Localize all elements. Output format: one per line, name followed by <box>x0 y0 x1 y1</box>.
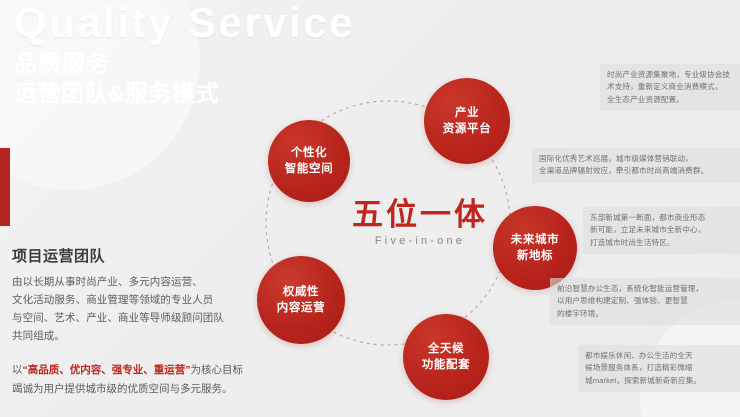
node-label-line1: 权威性 <box>283 284 319 300</box>
five-in-one-diagram: 个性化 智能空间 产业 资源平台 未来城市 新地标 全天候 功能配套 权威性 内… <box>248 58 578 408</box>
node-label-line1: 未来城市 <box>511 232 559 248</box>
diagram-node-allday-facilities[interactable]: 全天候 功能配套 <box>403 314 489 400</box>
left-section-title: 项目运营团队 <box>12 245 280 266</box>
hero-chinese-title: 品质服务 <box>14 49 434 78</box>
left-footer-line-2: 竭诚为用户提供城市级的优质空间与多元服务。 <box>12 380 280 398</box>
left-paragraph-line: 与空间、艺术、产业、商业等导师级顾问团队 <box>12 309 280 327</box>
note-line: 城market，探索新城新奇新应集。 <box>585 375 733 387</box>
footer-suffix: 为核心目标 <box>191 364 244 376</box>
note-line: 全生态产业资源配置。 <box>607 94 733 106</box>
annotation-note-future-city-landmark: 东部新城第一断面，都市商业形态 新可能，立足未来城市全新中心， 打造城市时尚生活… <box>583 207 740 254</box>
slide-canvas: Quality Service 品质服务 运营团队&服务模式 项目运营团队 由以… <box>0 0 740 417</box>
note-line: 都市娱乐休闲、办公生活的全天 <box>585 350 733 362</box>
center-chinese-title: 五位一体 <box>330 198 510 232</box>
node-label-line2: 功能配套 <box>422 357 470 373</box>
center-english-title: Five-in-one <box>330 235 510 247</box>
note-line: 新可能，立足未来城市全新中心， <box>590 224 733 236</box>
hero-english-title: Quality Service <box>14 0 434 48</box>
note-line: 前沿智慧办公生态，系统化智能运营管理， <box>557 283 733 295</box>
note-line: 东部新城第一断面，都市商业形态 <box>590 212 733 224</box>
left-footer-line-1: 以“高品质、优内容、强专业、重运营”为核心目标 <box>12 361 280 379</box>
node-label-line1: 全天候 <box>428 341 464 357</box>
annotation-note-industry-platform: 时尚产业资源集聚地，专业级协会技 术支持，重新定义商业消费模式， 全生态产业资源… <box>600 64 740 111</box>
left-paragraph: 由以长期从事时尚产业、多元内容运营、 文化活动服务、商业管理等领域的专业人员 与… <box>12 273 280 345</box>
left-paragraph-line: 共同组成。 <box>12 327 280 345</box>
note-line: 的楼宇环境。 <box>557 308 733 320</box>
left-paragraph-line: 文化活动服务、商业管理等领域的专业人员 <box>12 291 280 309</box>
hero-heading: Quality Service 品质服务 运营团队&服务模式 <box>14 0 434 108</box>
note-line: 全渠道品牌辐射效应，牵引都市时尚高端消费群。 <box>539 165 733 177</box>
node-label-line1: 产业 <box>455 105 479 121</box>
diagram-node-industry-platform[interactable]: 产业 资源平台 <box>424 78 510 164</box>
diagram-center-label: 五位一体 Five-in-one <box>330 198 510 247</box>
footer-quote: “高品质、优内容、强专业、重运营” <box>23 364 191 376</box>
annotation-note-smart-office: 前沿智慧办公生态，系统化智能运营管理， 以用户思维构建定制、强体验、更智慧 的楼… <box>550 278 740 325</box>
note-line: 时尚产业资源集聚地，专业级协会技 <box>607 69 733 81</box>
node-label-line1: 个性化 <box>291 145 327 161</box>
left-footer-statement: 以“高品质、优内容、强专业、重运营”为核心目标 竭诚为用户提供城市级的优质空间与… <box>12 361 280 398</box>
node-label-line2: 资源平台 <box>443 121 491 137</box>
note-line: 以用户思维构建定制、强体验、更智慧 <box>557 295 733 307</box>
footer-prefix: 以 <box>12 364 23 376</box>
annotation-note-allday-scenarios: 都市娱乐休闲、办公生活的全天 候场景服务体系，打造精彩微缩 城market，探索… <box>578 345 740 392</box>
node-label-line2: 智能空间 <box>285 161 333 177</box>
node-label-line2: 新地标 <box>517 248 553 264</box>
annotation-note-art-marketing: 国际化优秀艺术巡展，城市级媒体营销联动， 全渠道品牌辐射效应，牵引都市时尚高端消… <box>532 148 740 183</box>
note-line: 候场景服务体系，打造精彩微缩 <box>585 362 733 374</box>
note-line: 国际化优秀艺术巡展，城市级媒体营销联动， <box>539 153 733 165</box>
left-paragraph-line: 由以长期从事时尚产业、多元内容运营、 <box>12 273 280 291</box>
left-text-column: 项目运营团队 由以长期从事时尚产业、多元内容运营、 文化活动服务、商业管理等领域… <box>12 245 280 398</box>
hero-chinese-subtitle: 运营团队&服务模式 <box>14 79 434 108</box>
note-line: 打造城市时尚生活特区。 <box>590 237 733 249</box>
node-label-line2: 内容运营 <box>277 300 325 316</box>
diagram-node-personalized-space[interactable]: 个性化 智能空间 <box>268 120 350 202</box>
left-accent-bar <box>0 148 10 226</box>
note-line: 术支持，重新定义商业消费模式， <box>607 81 733 93</box>
